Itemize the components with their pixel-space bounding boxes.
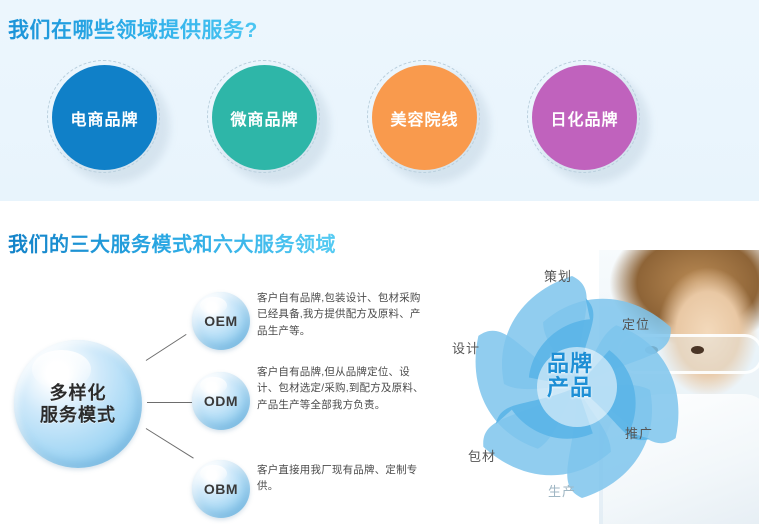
service-field-bubble-salon[interactable]: 美容院线 — [367, 60, 484, 177]
cycle-label-planning: 策划 — [544, 266, 572, 285]
orb-label-obm: OBM — [204, 481, 238, 497]
cycle-label-positioning: 定位 — [622, 314, 650, 333]
brand-cycle-diagram: 策划 定位 推广 生产 包材 设计 品牌 产品 — [440, 250, 759, 524]
connector-line-odm — [147, 402, 193, 403]
connector-line-obm — [146, 428, 194, 459]
service-mode-description-odm: 客户自有品牌,但从品牌定位、设计、包材选定/采购,到配方及原料、产品生产等全部我… — [257, 364, 429, 413]
cycle-label-packaging: 包材 — [468, 446, 496, 465]
cycle-center-label: 品牌 产品 — [518, 352, 622, 400]
cycle-center-line2: 产品 — [518, 376, 622, 400]
hub-label-line2: 服务模式 — [40, 404, 116, 427]
service-models-hub-orb: 多样化 服务模式 — [14, 340, 142, 468]
cycle-label-design: 设计 — [452, 338, 480, 357]
service-mode-description-oem: 客户自有品牌,包装设计、包材采购已经具备,我方提供配方及原料、产品生产等。 — [257, 290, 429, 339]
cycle-label-production: 生产 — [548, 481, 576, 500]
bubble-disc: 微商品牌 — [212, 65, 317, 170]
service-field-bubble-wechat[interactable]: 微商品牌 — [207, 60, 324, 177]
cycle-center-line1: 品牌 — [518, 352, 622, 376]
bubble-label: 美容院线 — [390, 106, 458, 130]
cycle-label-promotion: 推广 — [625, 423, 653, 442]
service-fields-panel: 我们在哪些领域提供服务? 电商品牌 微商品牌 美容院线 — [0, 0, 759, 201]
orb-label-oem: OEM — [204, 313, 237, 329]
connector-line-oem — [146, 334, 187, 361]
bubble-label: 电商品牌 — [70, 106, 138, 130]
bubble-disc: 电商品牌 — [52, 65, 157, 170]
service-mode-orb-oem[interactable]: OEM — [192, 292, 250, 350]
bubble-label: 日化品牌 — [550, 106, 618, 130]
service-mode-description-obm: 客户直接用我厂现有品牌、定制专供。 — [257, 462, 429, 495]
service-field-bubble-household[interactable]: 日化品牌 — [527, 60, 644, 177]
service-field-bubble-row: 电商品牌 微商品牌 美容院线 日化 — [0, 58, 759, 183]
service-models-title: 我们的三大服务模式和六大服务领域 — [8, 228, 336, 257]
service-field-bubble-ecommerce[interactable]: 电商品牌 — [47, 60, 164, 177]
hub-label-line1: 多样化 — [40, 382, 116, 405]
bubble-label: 微商品牌 — [230, 106, 298, 130]
service-mode-orb-odm[interactable]: ODM — [192, 372, 250, 430]
bubble-disc: 日化品牌 — [532, 65, 637, 170]
service-models-diagram: 多样化 服务模式 OEM ODM OBM 客户自有品牌,包装设计、包材采购已经具… — [0, 278, 450, 524]
service-mode-orb-obm[interactable]: OBM — [192, 460, 250, 518]
page-root: 我们在哪些领域提供服务? 电商品牌 微商品牌 美容院线 — [0, 0, 759, 524]
page-title: 我们在哪些领域提供服务? — [8, 14, 258, 44]
orb-label-odm: ODM — [204, 393, 238, 409]
hub-label: 多样化 服务模式 — [40, 382, 116, 427]
bubble-disc: 美容院线 — [372, 65, 477, 170]
